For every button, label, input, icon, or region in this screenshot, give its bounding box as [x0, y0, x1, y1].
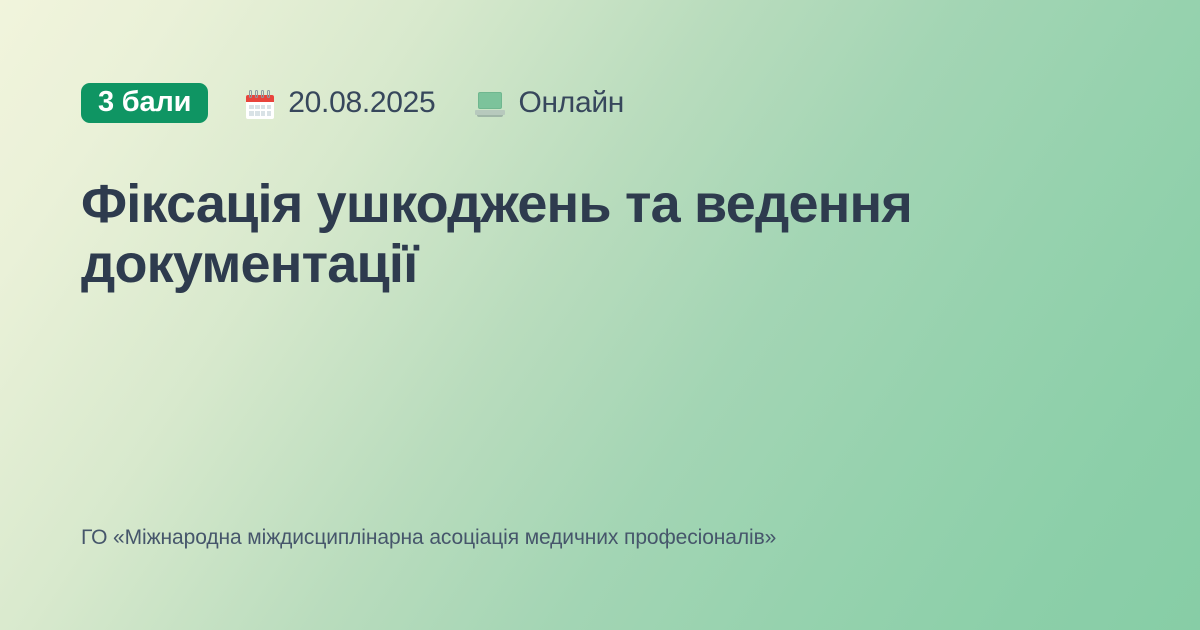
- meta-row: 3 бали 20.08.2025 Онлайн: [81, 82, 1120, 124]
- event-format-label: Онлайн: [518, 86, 624, 120]
- layout-spacer: [81, 295, 1120, 524]
- points-badge: 3 бали: [81, 83, 208, 123]
- event-share-card: 3 бали 20.08.2025 Онлайн Фіксація ушкодж…: [0, 0, 1200, 630]
- organizer-name: ГО «Міжнародна міждисциплінарна асоціаці…: [81, 524, 1120, 630]
- computer-icon: [475, 92, 505, 118]
- event-date: 20.08.2025: [246, 86, 435, 120]
- calendar-icon: [246, 90, 274, 119]
- event-title: Фіксація ушкоджень та ведення документац…: [81, 124, 1041, 295]
- event-format: Онлайн: [475, 86, 624, 120]
- event-date-label: 20.08.2025: [288, 86, 435, 120]
